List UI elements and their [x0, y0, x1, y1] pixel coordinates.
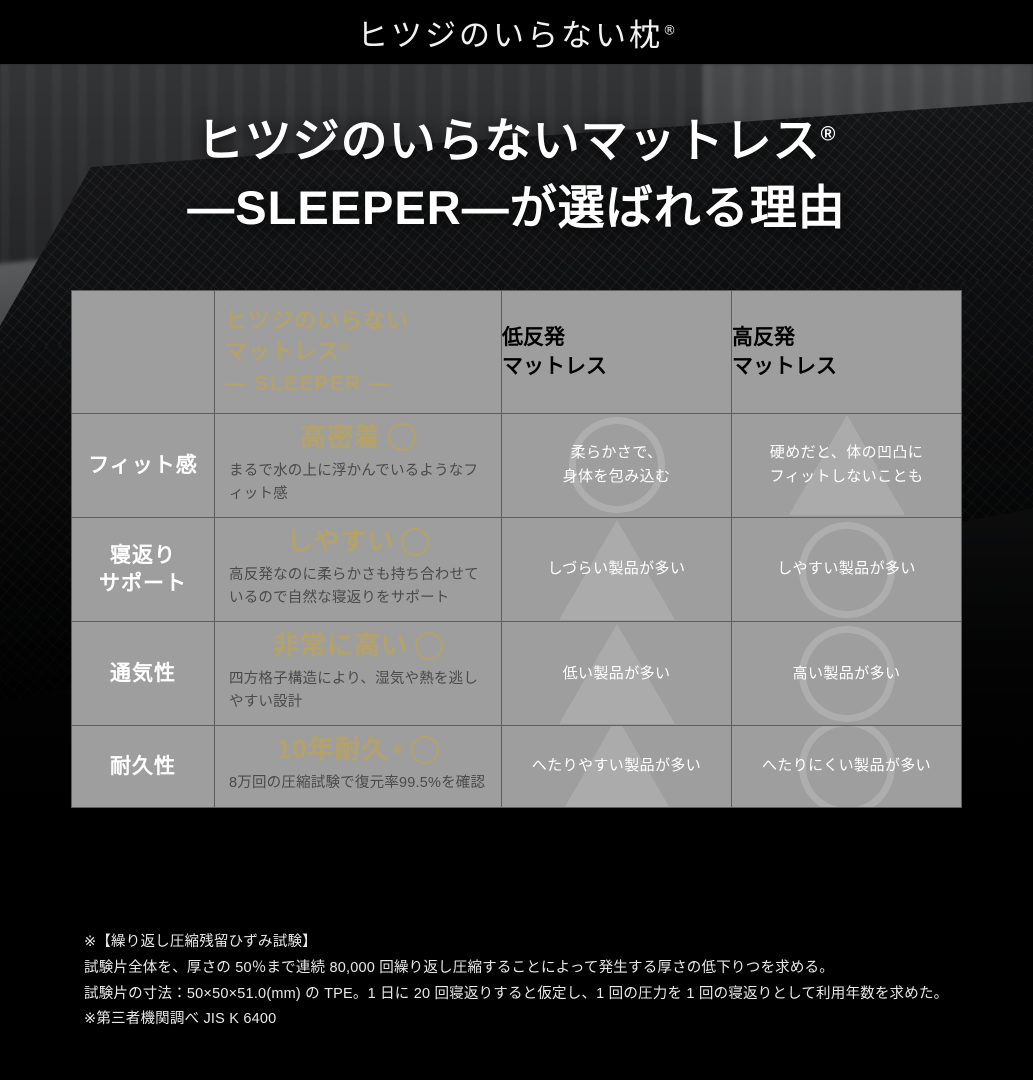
sleeper-fit-verdict: 高密着: [229, 422, 487, 453]
column-header-sleeper: ヒツジのいらない マットレス® ― SLEEPER ―: [215, 291, 502, 414]
triangle-watermark-icon: [789, 415, 905, 515]
column-header-low-rebound: 低反発 マットレス: [502, 291, 732, 414]
headline-registered-mark: ®: [821, 123, 837, 145]
product-comparison-page: ヒツジのいらない枕® ヒツジのいらないマットレス® ―SLEEPER―が選ばれる…: [0, 0, 1033, 1080]
cell-low-rebound-breathability: 低い製品が多い: [502, 622, 732, 726]
headline-line-1-text: ヒツジのいらないマットレス: [197, 114, 821, 167]
comparison-table: ヒツジのいらない マットレス® ― SLEEPER ― 低反発 マットレス: [71, 290, 962, 808]
sleeper-turnover-description: 高反発なのに柔らかさも持ち合わせているので自然な寝返りをサポート: [229, 564, 487, 609]
sleeper-breathability-verdict: 非常に高い: [229, 630, 487, 661]
sleeper-column-title: ヒツジのいらない マットレス® ― SLEEPER ―: [225, 305, 491, 399]
sleeper-breathability-description: 四方格子構造により、湿気や熱を逃しやすい設計: [229, 668, 487, 713]
high-rebound-column-title: 高反発 マットレス: [732, 323, 961, 382]
low-rebound-title-line-2: マットレス: [502, 355, 607, 378]
circle-mark-icon: [411, 736, 439, 764]
sleeper-title-line-2: マットレス: [225, 339, 340, 364]
low-rebound-turnover-text: しづらい製品が多い: [548, 560, 686, 577]
headline-line-1: ヒツジのいらないマットレス®: [0, 112, 1033, 171]
sleeper-durability-description: 8万回の圧縮試験で復元率99.5%を確認: [229, 772, 487, 794]
row-label-fit: フィット感: [72, 413, 215, 517]
high-rebound-turnover-text: しやすい製品が多い: [777, 560, 915, 577]
low-rebound-fit-text: 柔らかさで、身体を包み込む: [563, 444, 671, 485]
brand-logo-text: ヒツジのいらない枕: [357, 18, 663, 54]
brand-logo: ヒツジのいらない枕®: [357, 10, 676, 55]
footnote-marker: ※: [392, 743, 405, 757]
high-rebound-durability-text: へたりにくい製品が多い: [762, 757, 931, 774]
sleeper-registered-mark: ®: [340, 340, 350, 354]
row-label-turnover-support: 寝返りサポート: [72, 517, 215, 621]
sleeper-durability-verdict-text: 10年耐久: [277, 734, 389, 765]
cell-sleeper-durability: 10年耐久※ 8万回の圧縮試験で復元率99.5%を確認: [215, 726, 502, 808]
row-label-breathability: 通気性: [72, 622, 215, 726]
circle-mark-icon: [401, 528, 429, 556]
sleeper-fit-verdict-text: 高密着: [300, 422, 381, 453]
circle-mark-icon: [415, 632, 443, 660]
column-header-high-rebound: 高反発 マットレス: [732, 291, 962, 414]
sleeper-title-line-3: ― SLEEPER ―: [225, 370, 491, 398]
page-title: ヒツジのいらないマットレス® ―SLEEPER―が選ばれる理由: [0, 112, 1033, 238]
low-rebound-column-title: 低反発 マットレス: [502, 323, 731, 382]
cell-sleeper-fit: 高密着 まるで水の上に浮かんでいるようなフィット感: [215, 413, 502, 517]
table-header-row: ヒツジのいらない マットレス® ― SLEEPER ― 低反発 マットレス: [72, 291, 962, 414]
high-rebound-breathability-text: 高い製品が多い: [793, 665, 901, 682]
table-row: フィット感 高密着 まるで水の上に浮かんでいるようなフィット感 柔らかさで、身体…: [72, 413, 962, 517]
low-rebound-breathability-text: 低い製品が多い: [563, 665, 671, 682]
sleeper-title-line-1: ヒツジのいらない: [225, 308, 409, 333]
cell-high-rebound-fit: 硬めだと、体の凹凸にフィットしないことも: [732, 413, 962, 517]
row-label-durability: 耐久性: [72, 726, 215, 808]
footnotes: ※【繰り返し圧縮残留ひずみ試験】 試験片全体を、厚さの 50％まで連続 80,0…: [84, 930, 984, 1033]
table-row: 寝返りサポート しやすい 高反発なのに柔らかさも持ち合わせているので自然な寝返り…: [72, 517, 962, 621]
cell-high-rebound-turnover: しやすい製品が多い: [732, 517, 962, 621]
circle-mark-icon: [388, 423, 416, 451]
cell-low-rebound-turnover: しづらい製品が多い: [502, 517, 732, 621]
sleeper-breathability-verdict-text: 非常に高い: [273, 630, 408, 661]
cell-sleeper-turnover: しやすい 高反発なのに柔らかさも持ち合わせているので自然な寝返りをサポート: [215, 517, 502, 621]
high-rebound-title-line-2: マットレス: [732, 355, 837, 378]
cell-low-rebound-fit: 柔らかさで、身体を包み込む: [502, 413, 732, 517]
cell-high-rebound-durability: へたりにくい製品が多い: [732, 726, 962, 808]
footnote-line-3: 試験片の寸法：50×50×51.0(mm) の TPE。1 日に 20 回寝返り…: [84, 982, 984, 1008]
table-row: 通気性 非常に高い 四方格子構造により、湿気や熱を逃しやすい設計 低い製品が多い: [72, 622, 962, 726]
cell-low-rebound-durability: へたりやすい製品が多い: [502, 726, 732, 808]
cell-sleeper-breathability: 非常に高い 四方格子構造により、湿気や熱を逃しやすい設計: [215, 622, 502, 726]
low-rebound-durability-text: へたりやすい製品が多い: [532, 757, 701, 774]
footnote-line-2: 試験片全体を、厚さの 50％まで連続 80,000 回繰り返し圧縮することによっ…: [84, 956, 984, 982]
comparison-table-wrapper: ヒツジのいらない マットレス® ― SLEEPER ― 低反発 マットレス: [71, 290, 961, 808]
headline-line-2: ―SLEEPER―が選ばれる理由: [0, 177, 1033, 238]
footnote-line-1: ※【繰り返し圧縮残留ひずみ試験】: [84, 930, 984, 956]
low-rebound-title-line-1: 低反発: [502, 326, 565, 349]
high-rebound-title-line-1: 高反発: [732, 326, 795, 349]
sleeper-durability-verdict: 10年耐久※: [229, 734, 487, 765]
table-corner-cell: [72, 291, 215, 414]
brand-logo-registered-mark: ®: [663, 23, 676, 38]
footnote-line-4: ※第三者機関調べ JIS K 6400: [84, 1007, 984, 1033]
cell-high-rebound-breathability: 高い製品が多い: [732, 622, 962, 726]
brand-logo-bar: ヒツジのいらない枕®: [0, 0, 1033, 64]
sleeper-turnover-verdict: しやすい: [229, 526, 487, 557]
table-row: 耐久性 10年耐久※ 8万回の圧縮試験で復元率99.5%を確認 へたりやすい製品…: [72, 726, 962, 808]
sleeper-turnover-verdict-text: しやすい: [287, 526, 395, 557]
circle-watermark-icon: [569, 417, 665, 513]
sleeper-fit-description: まるで水の上に浮かんでいるようなフィット感: [229, 460, 487, 505]
high-rebound-fit-text: 硬めだと、体の凹凸にフィットしないことも: [770, 444, 924, 485]
